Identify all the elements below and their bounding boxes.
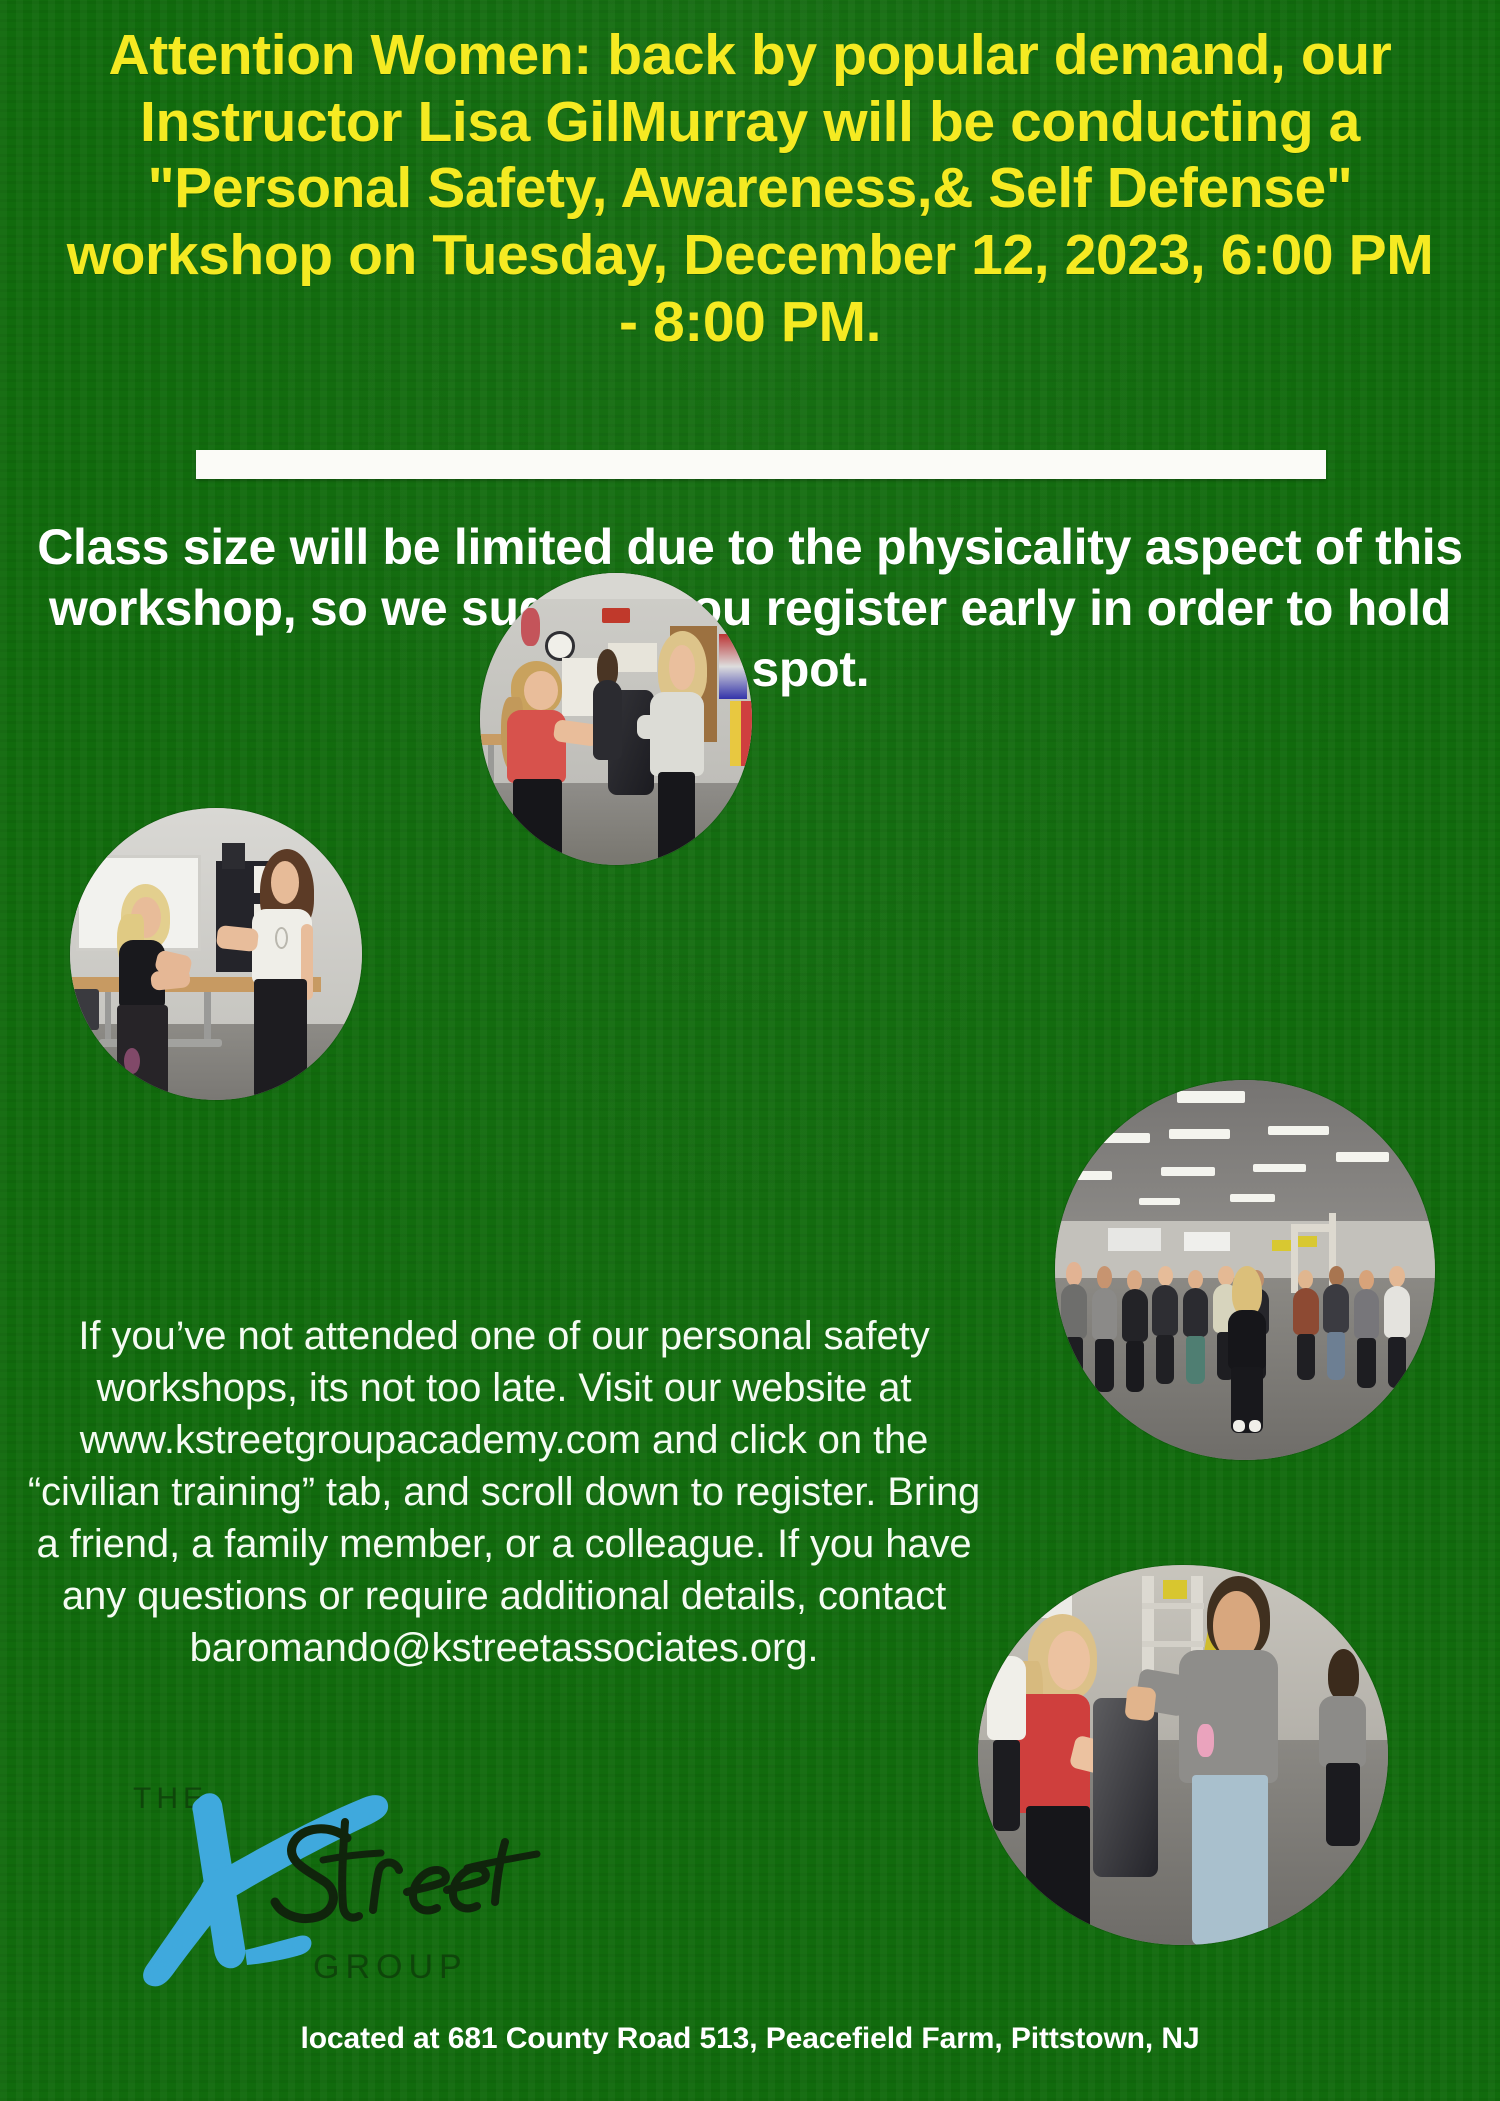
location-footer: located at 681 County Road 513, Peacefie… [0, 2022, 1500, 2056]
page-title: Attention Women: back by popular demand,… [50, 22, 1450, 355]
flyer-poster: Attention Women: back by popular demand,… [0, 0, 1500, 2101]
photo-scene [70, 808, 362, 1100]
logo-the-text: THE [95, 2010, 96, 2011]
photo-wrist-grab-demo: Instructor in black tank top demonstrati… [70, 808, 362, 1100]
photo-partner-pad-work: Blonde woman in a red shirt bracing a bl… [978, 1565, 1388, 1945]
photo-scene [480, 573, 752, 865]
photo-group-circle: Large group of participants standing in … [1055, 1080, 1435, 1460]
logo-group-text: GROUP [95, 2010, 96, 2011]
svg-text:GROUP: GROUP [313, 1948, 468, 1986]
photo-pad-striking-drill: Woman in a red t-shirt striking a black … [480, 573, 752, 865]
k-street-group-logo: THE [95, 1760, 565, 2010]
logo-street-text: Street [95, 2010, 96, 2011]
logo-k-letter: K [95, 2010, 96, 2011]
photo-scene [978, 1565, 1388, 1945]
photo-scene [1055, 1080, 1435, 1460]
divider-rule [196, 450, 1326, 479]
body-paragraph: If you’ve not attended one of our person… [24, 1310, 984, 1674]
